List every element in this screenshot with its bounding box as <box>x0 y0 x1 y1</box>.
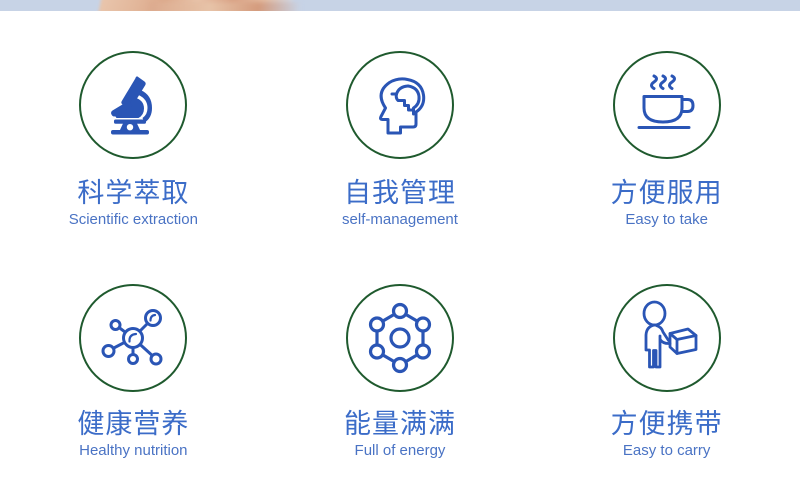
steaming-cup-icon <box>630 70 704 140</box>
feature-item-scientific-extraction[interactable]: 科学萃取 Scientific extraction <box>0 11 267 252</box>
microscope-icon <box>96 68 170 142</box>
feature-item-self-management[interactable]: 自我管理 self-management <box>267 11 534 252</box>
feature-title-en: Scientific extraction <box>69 212 198 229</box>
feature-title-en: self-management <box>342 212 458 229</box>
feature-icon-circle <box>613 284 721 392</box>
head-brain-icon <box>364 69 436 141</box>
feature-item-easy-to-take[interactable]: 方便服用 Easy to take <box>533 11 800 252</box>
feature-grid: 科学萃取 Scientific extraction 自我管理 self-man… <box>0 11 800 492</box>
feature-title-en: Full of energy <box>355 443 446 460</box>
feature-title-cn: 方便携带 <box>611 410 723 438</box>
feature-title-cn: 健康营养 <box>77 410 189 438</box>
feature-title-cn: 能量满满 <box>344 410 456 438</box>
feature-item-easy-to-carry[interactable]: 方便携带 Easy to carry <box>533 252 800 492</box>
feature-icon-circle <box>346 284 454 392</box>
feature-item-healthy-nutrition[interactable]: 健康营养 Healthy nutrition <box>0 252 267 492</box>
top-image-strip <box>0 0 800 11</box>
feature-title-cn: 方便服用 <box>611 179 723 207</box>
feature-highlights-page: 科学萃取 Scientific extraction 自我管理 self-man… <box>0 0 800 492</box>
molecule-network-icon <box>95 300 171 376</box>
feature-title-en: Healthy nutrition <box>79 443 187 460</box>
person-carrying-box-icon <box>630 300 704 376</box>
banner-photo-fragment-highlight <box>150 2 300 11</box>
feature-title-cn: 自我管理 <box>344 179 456 207</box>
feature-icon-circle <box>613 51 721 159</box>
feature-icon-circle <box>79 284 187 392</box>
feature-title-en: Easy to carry <box>623 443 711 460</box>
feature-title-en: Easy to take <box>625 212 708 229</box>
feature-item-full-of-energy[interactable]: 能量满满 Full of energy <box>267 252 534 492</box>
feature-icon-circle <box>346 51 454 159</box>
feature-title-cn: 科学萃取 <box>77 179 189 207</box>
hexagon-molecule-icon <box>362 300 438 376</box>
feature-icon-circle <box>79 51 187 159</box>
